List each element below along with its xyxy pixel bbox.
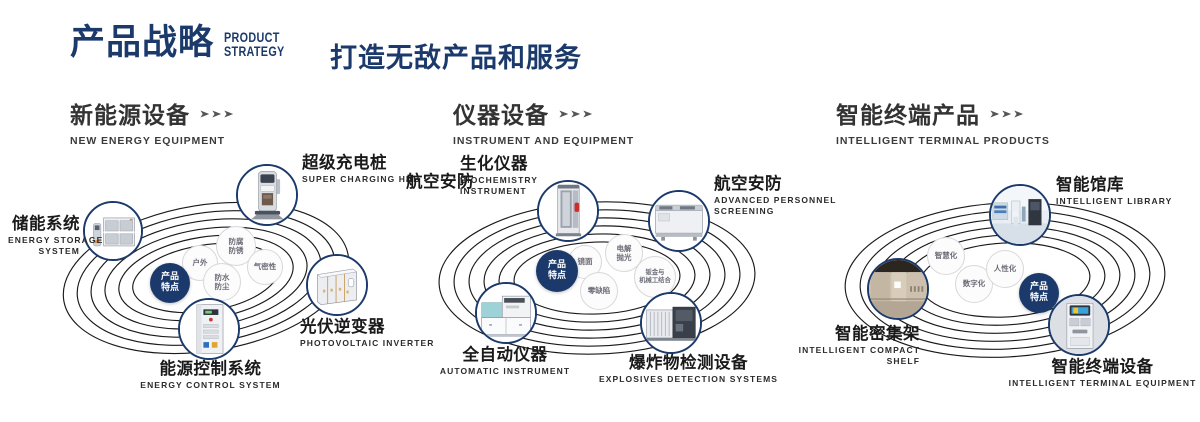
cluster-new-energy-equipment: 户外 防腐 防锈 防水 防尘 气密性 产品 特点 [10, 150, 410, 400]
feature-bubble-label: 防腐 防锈 [229, 237, 244, 256]
feature-bubble: 人性化 [986, 250, 1024, 288]
node-label-en-line1: INTELLIGENT COMPACT [799, 345, 920, 355]
node-explosives-detection-systems[interactable] [640, 292, 702, 354]
node-label-en-line1: ENERGY STORAGE [8, 235, 103, 245]
page-title: 产品战略 PRODUCT STRATEGY [70, 26, 300, 61]
feature-line2: 防尘 [215, 282, 230, 291]
section-heading-cn: 仪器设备 [453, 96, 549, 130]
section-heading-cn: 新能源设备 [70, 96, 190, 130]
page-subtitle: 打造无敌产品和服务 [330, 36, 582, 75]
page-title-en-line1: PRODUCT [224, 31, 285, 45]
node-label-en: ENERGY STORAGE SYSTEM [8, 235, 80, 256]
node-label-cn: 全自动仪器 [420, 346, 590, 364]
node-intelligent-terminal-equipment[interactable] [1048, 294, 1110, 356]
node-label-intelligent-library: 智能馆库 INTELLIGENT LIBRARY [1056, 176, 1176, 207]
node-automatic-instrument[interactable] [475, 282, 537, 344]
infographic-page: 产品战略 PRODUCT STRATEGY 打造无敌产品和服务 新能源设备 ➤➤… [0, 0, 1200, 422]
feature-bubble-label: 气密性 [254, 262, 277, 271]
section-heading-en: NEW ENERGY EQUIPMENT [70, 135, 234, 147]
node-label-cn: 智能密集架 [790, 325, 920, 343]
section-heading-en: INSTRUMENT AND EQUIPMENT [453, 135, 634, 147]
feature-bubble-label: 人性化 [994, 264, 1017, 273]
feature-bubble-label: 零缺陷 [588, 286, 611, 295]
feature-bubble-label: 镜面 [578, 257, 593, 266]
feature-bubble: 智慧化 [927, 237, 965, 275]
node-label-en-line1: BIOCHEMISTRY [460, 175, 538, 185]
feature-bubble-label: 智慧化 [935, 251, 958, 260]
page-title-en: PRODUCT STRATEGY [224, 31, 285, 59]
node-label-en-line2: SHELF [887, 356, 920, 366]
page-title-cn: 产品战略 [70, 26, 214, 61]
feature-bubble-label: 数字化 [963, 279, 986, 288]
node-label-energy-storage-system: 储能系统 ENERGY STORAGE SYSTEM [8, 215, 80, 256]
node-label-en: ENERGY CONTROL SYSTEM [118, 380, 303, 391]
feature-bubble-label: 钣金与 机械工结合 [639, 269, 670, 285]
node-super-charging-hub[interactable] [236, 164, 298, 226]
node-label-en: INTELLIGENT COMPACT SHELF [790, 345, 920, 366]
node-energy-storage-system[interactable] [83, 201, 143, 261]
core-line2: 特点 [548, 271, 566, 281]
node-label-en: AUTOMATIC INSTRUMENT [420, 366, 590, 377]
node-label-intelligent-compact-shelf: 智能密集架 INTELLIGENT COMPACT SHELF [790, 325, 920, 366]
node-energy-control-system[interactable] [178, 298, 240, 360]
feature-bubble: 防水 防尘 [203, 263, 241, 301]
feature-bubble: 零缺陷 [580, 272, 618, 310]
node-photovoltaic-inverter[interactable] [306, 254, 368, 316]
core-bubble-product-features: 产品 特点 [150, 263, 190, 303]
feature-bubble-label: 户外 [193, 258, 208, 267]
core-line1: 产品 [161, 272, 179, 282]
feature-line2: 抛光 [617, 253, 632, 262]
section-heading-instrument: 仪器设备 ➤➤➤ INSTRUMENT AND EQUIPMENT [453, 96, 634, 147]
core-bubble-label: 产品 特点 [548, 260, 566, 282]
node-label-en-line2: SCREENING [714, 206, 774, 216]
core-bubble-product-features: 产品 特点 [536, 250, 578, 292]
node-label-intelligent-terminal-equipment: 智能终端设备 INTELLIGENT TERMINAL EQUIPMENT [1000, 358, 1200, 389]
feature-bubble: 气密性 [247, 249, 283, 285]
node-label-en: BIOCHEMISTRY INSTRUMENT [460, 175, 580, 196]
node-label-en: INTELLIGENT TERMINAL EQUIPMENT [1000, 378, 1200, 389]
cluster-instrument-and-equipment: 镜面 电解 抛光 零缺陷 钣金与 机械工结合 产品 特点 航空安防 [400, 150, 800, 400]
page-title-en-line2: STRATEGY [224, 45, 285, 59]
node-label-cn: 智能终端设备 [1000, 358, 1200, 376]
section-heading-cn: 智能终端产品 [836, 96, 980, 130]
node-label-cn: 储能系统 [8, 215, 80, 233]
feature-line1: 电解 [617, 244, 632, 253]
core-bubble-label: 产品 特点 [1030, 282, 1048, 304]
feature-line1: 防腐 [229, 237, 244, 246]
node-label-cn: 爆炸物检测设备 [596, 354, 781, 372]
node-label-automatic-instrument: 全自动仪器 AUTOMATIC INSTRUMENT [420, 346, 590, 377]
core-line2: 特点 [1030, 293, 1048, 303]
node-label-energy-control-system: 能源控制系统 ENERGY CONTROL SYSTEM [118, 360, 303, 391]
chevron-right-icon: ➤➤➤ [199, 107, 234, 120]
feature-line1: 防水 [215, 273, 230, 282]
node-label-en: EXPLOSIVES DETECTION SYSTEMS [596, 374, 781, 385]
feature-line2: 防锈 [229, 246, 244, 255]
node-advanced-personnel-screening[interactable] [648, 190, 710, 252]
core-line1: 产品 [548, 260, 566, 270]
node-label-explosives-detection-systems: 爆炸物检测设备 EXPLOSIVES DETECTION SYSTEMS [596, 354, 781, 385]
section-heading-en: INTELLIGENT TERMINAL PRODUCTS [836, 135, 1050, 147]
feature-line1: 钣金与 [646, 269, 665, 276]
core-line2: 特点 [161, 283, 179, 293]
node-label-en-line2: INSTRUMENT [460, 186, 527, 196]
section-heading-terminal: 智能终端产品 ➤➤➤ INTELLIGENT TERMINAL PRODUCTS [836, 96, 1050, 147]
feature-bubble-label: 防水 防尘 [215, 273, 230, 292]
feature-line2: 机械工结合 [639, 277, 670, 284]
node-label-cn: 生化仪器 [460, 155, 580, 173]
chevron-right-icon: ➤➤➤ [989, 107, 1024, 120]
core-bubble-label: 产品 特点 [161, 272, 179, 294]
node-label-en: INTELLIGENT LIBRARY [1056, 196, 1176, 207]
node-intelligent-library[interactable] [989, 184, 1051, 246]
cluster-intelligent-terminal-products: 智慧化 数字化 人性化 产品 特点 [800, 150, 1200, 400]
node-intelligent-compact-shelf[interactable] [867, 258, 929, 320]
node-label-en-line2: SYSTEM [38, 246, 80, 256]
section-heading-new-energy: 新能源设备 ➤➤➤ NEW ENERGY EQUIPMENT [70, 96, 234, 147]
core-line1: 产品 [1030, 282, 1048, 292]
feature-bubble-label: 电解 抛光 [617, 244, 632, 263]
chevron-right-icon: ➤➤➤ [558, 107, 593, 120]
node-label-cn: 能源控制系统 [118, 360, 303, 378]
node-label-biochemistry-instrument: 生化仪器 BIOCHEMISTRY INSTRUMENT [460, 155, 580, 196]
node-label-cn: 智能馆库 [1056, 176, 1176, 194]
